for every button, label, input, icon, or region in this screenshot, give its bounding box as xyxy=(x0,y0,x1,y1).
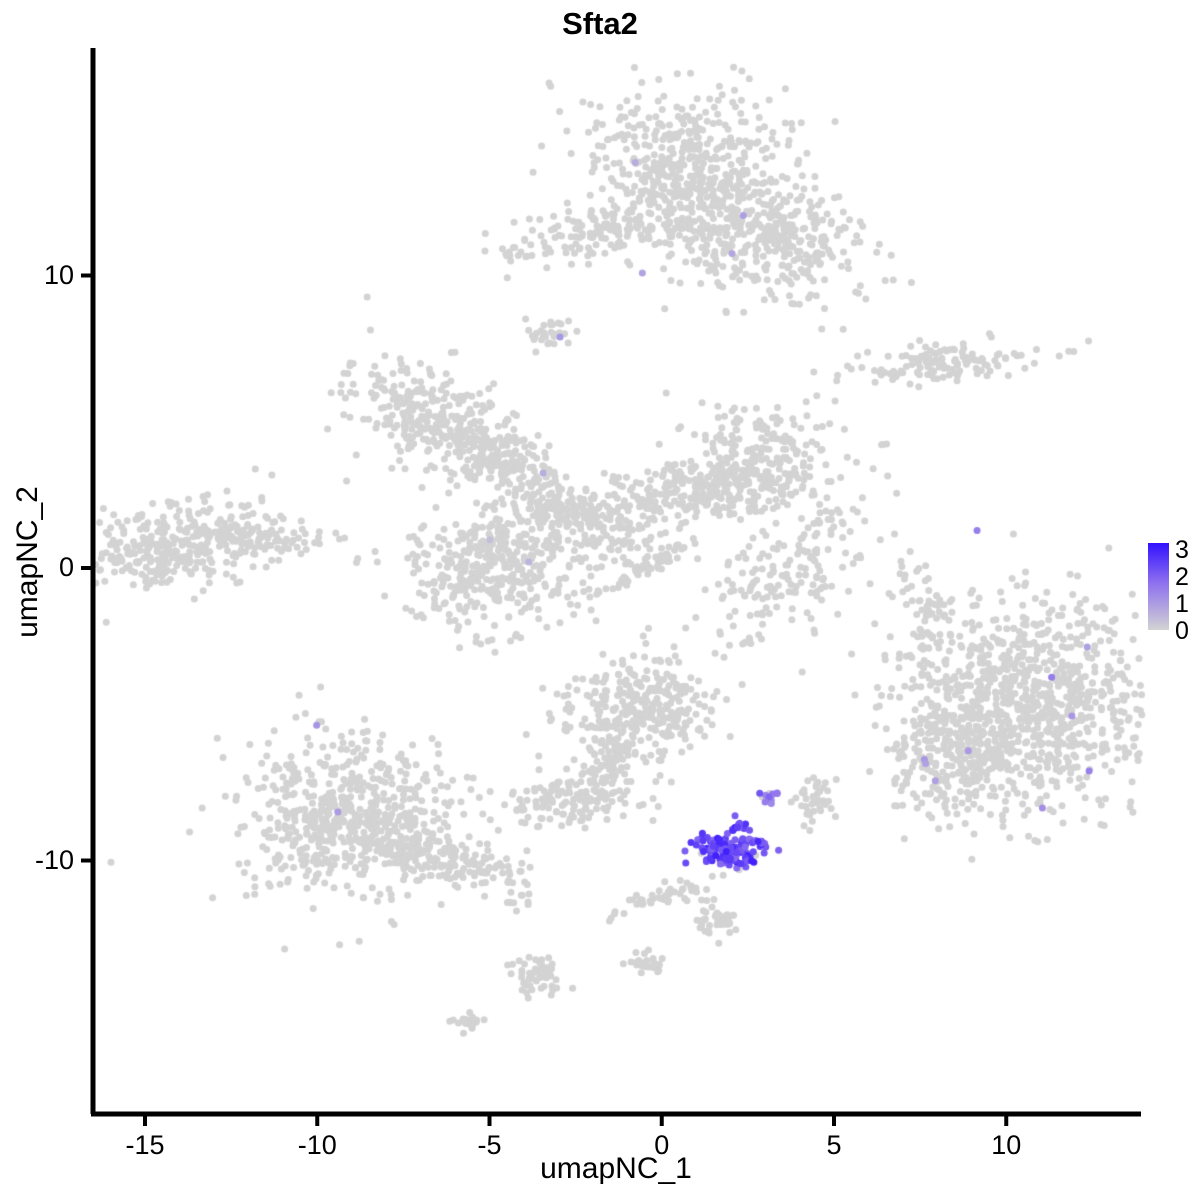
colorbar-legend: 3210 xyxy=(1148,538,1200,648)
y-axis-label: umapNC_2 xyxy=(11,442,45,682)
colorbar-gradient xyxy=(1148,543,1169,630)
colorbar-tick-label: 0 xyxy=(1175,619,1189,644)
y-tick-label: 10 xyxy=(4,260,74,291)
x-axis-label: umapNC_1 xyxy=(91,1152,1141,1186)
y-tick-label: -10 xyxy=(4,845,74,876)
colorbar-tick-label: 2 xyxy=(1175,565,1189,590)
colorbar-tick-label: 1 xyxy=(1175,592,1189,617)
scatter-plot-canvas xyxy=(0,0,1200,1200)
colorbar-tick-label: 3 xyxy=(1175,538,1189,563)
umap-feature-plot: Sfta2 -15-10-50510 -10010 umapNC_1 umapN… xyxy=(0,0,1200,1200)
